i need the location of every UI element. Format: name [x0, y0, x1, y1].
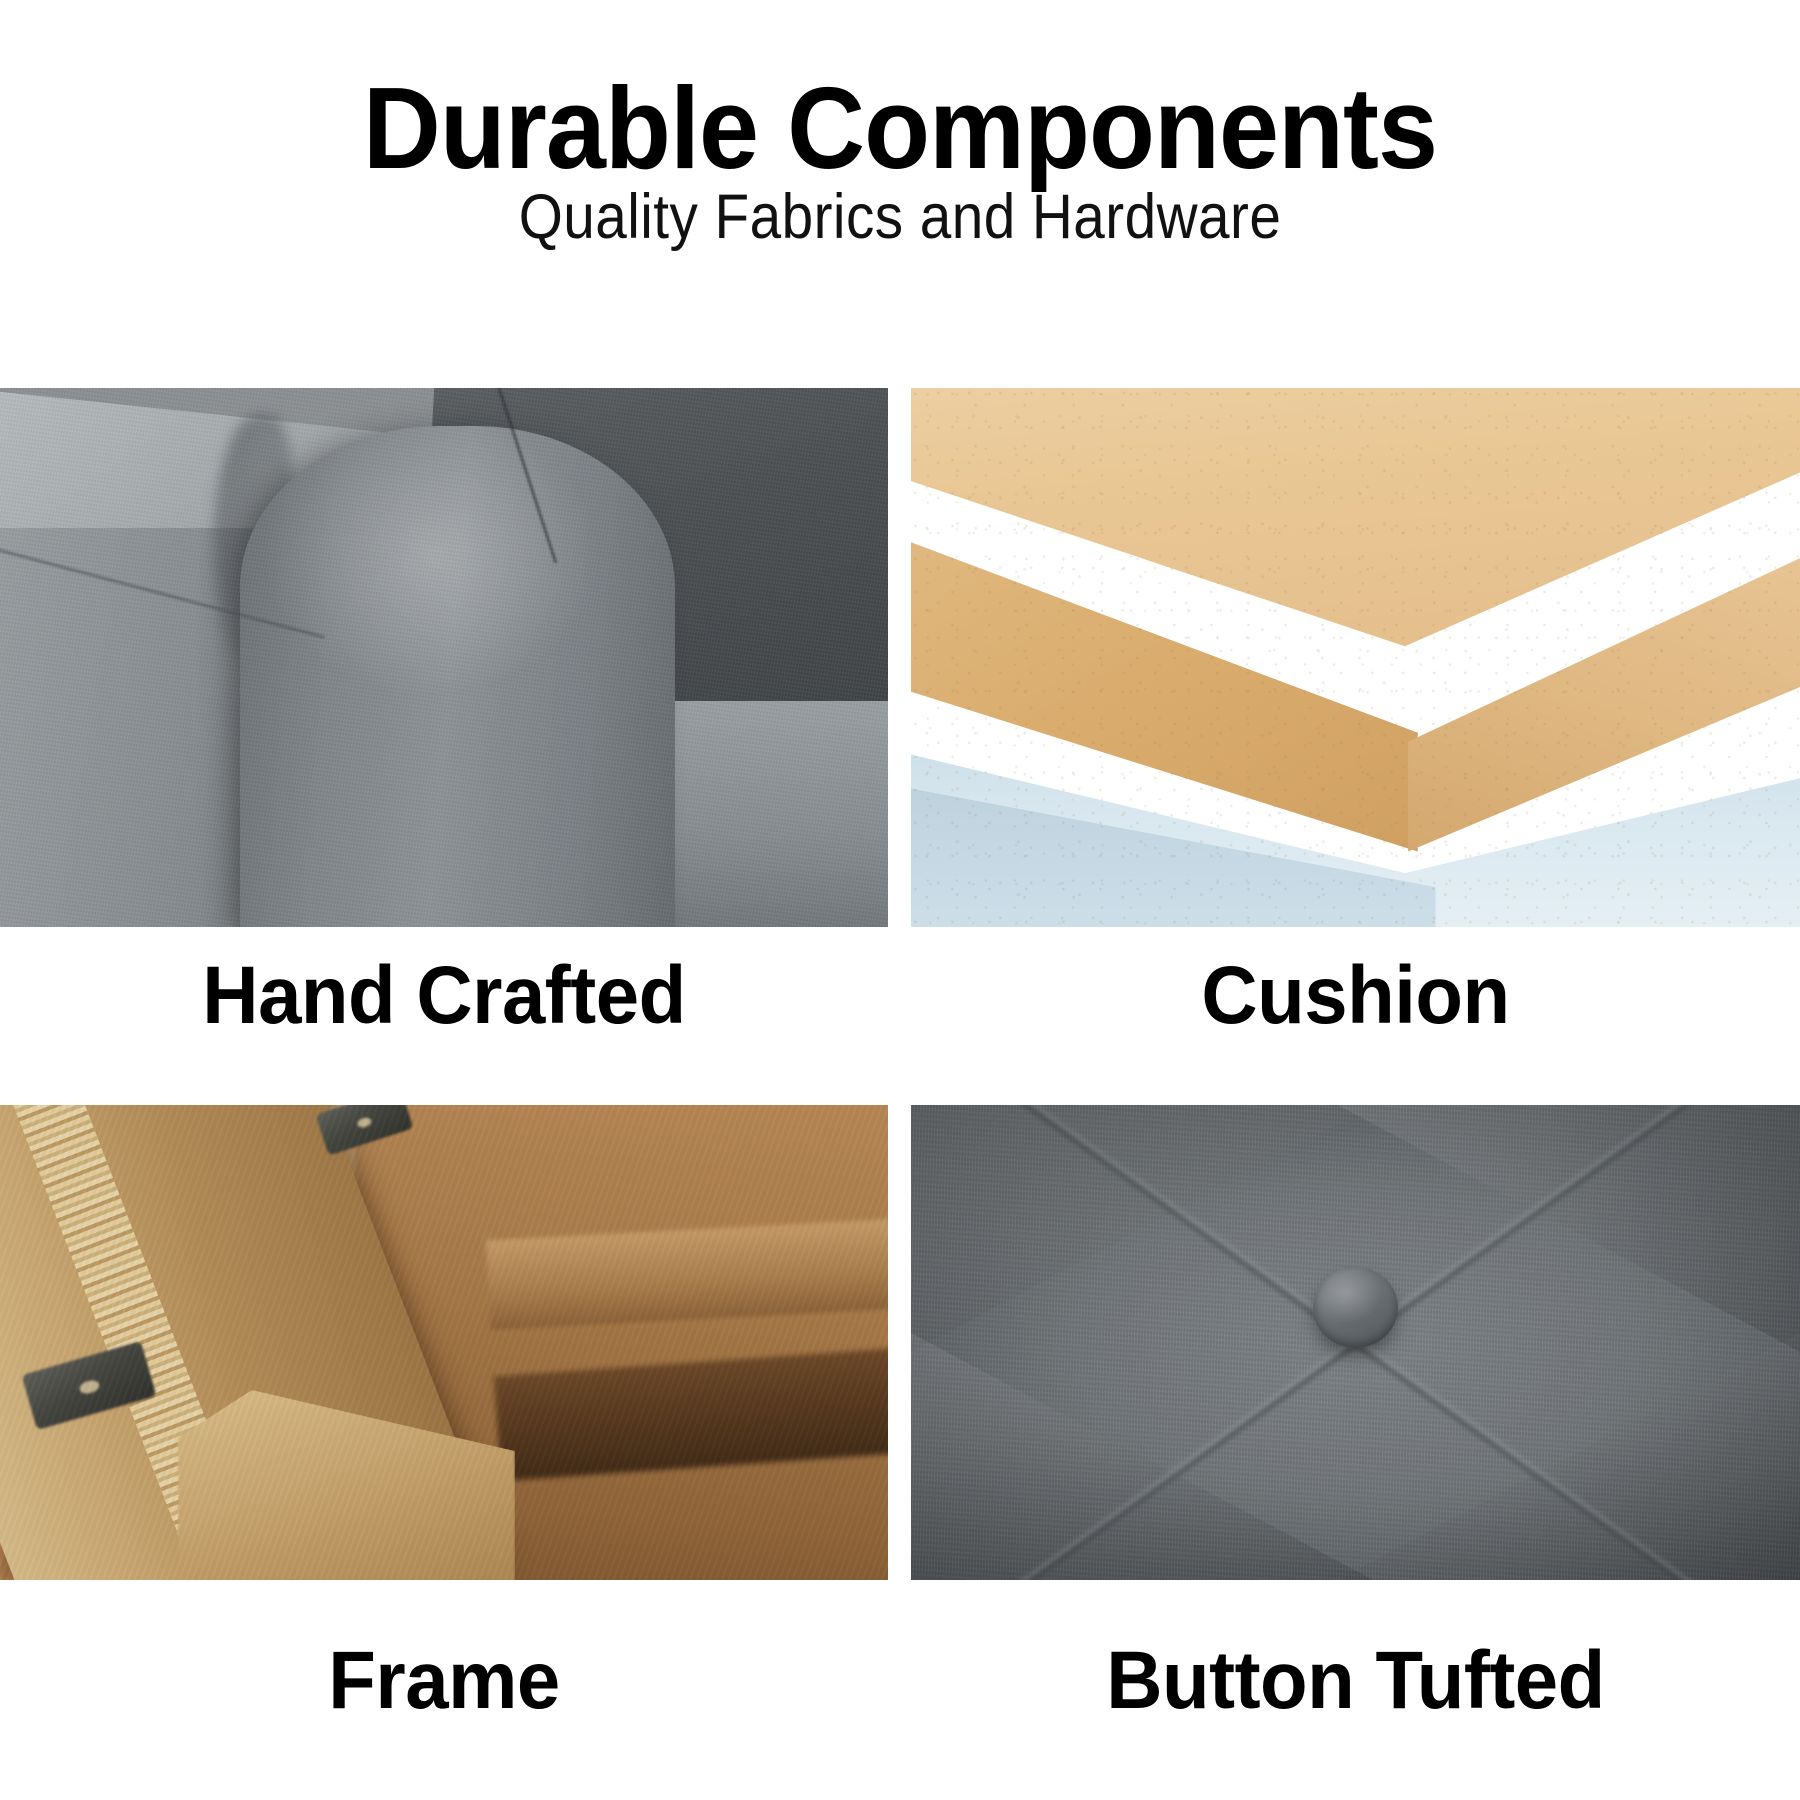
- panel-frame: [0, 1105, 888, 1580]
- panel-button-tufted: [911, 1105, 1800, 1580]
- photo-cushion: [911, 388, 1800, 927]
- caption-hand-crafted: Hand Crafted: [22, 955, 866, 1037]
- tuft-quadrant-top-right: [1338, 1105, 1800, 1352]
- header: Durable Components Quality Fabrics and H…: [0, 0, 1800, 330]
- page-title: Durable Components: [63, 70, 1737, 186]
- panel-cushion: [911, 388, 1800, 927]
- caption-cushion: Cushion: [933, 955, 1778, 1037]
- photo-button-tufted: [911, 1105, 1800, 1580]
- panel-hand-crafted: [0, 388, 888, 927]
- tuft-quadrant-top-left: [911, 1105, 1373, 1352]
- sofa-arm-roll: [240, 426, 675, 927]
- photo-frame: [0, 1105, 888, 1580]
- tuft-quadrant-bottom-left: [911, 1333, 1373, 1580]
- infographic-page: Durable Components Quality Fabrics and H…: [0, 0, 1800, 1800]
- photo-hand-crafted: [0, 388, 888, 927]
- tuft-quadrant-bottom-right: [1338, 1333, 1800, 1580]
- caption-button-tufted: Button Tufted: [933, 1640, 1778, 1722]
- upholstery-button: [1313, 1267, 1397, 1348]
- caption-frame: Frame: [22, 1640, 866, 1722]
- page-subtitle: Quality Fabrics and Hardware: [90, 186, 1710, 249]
